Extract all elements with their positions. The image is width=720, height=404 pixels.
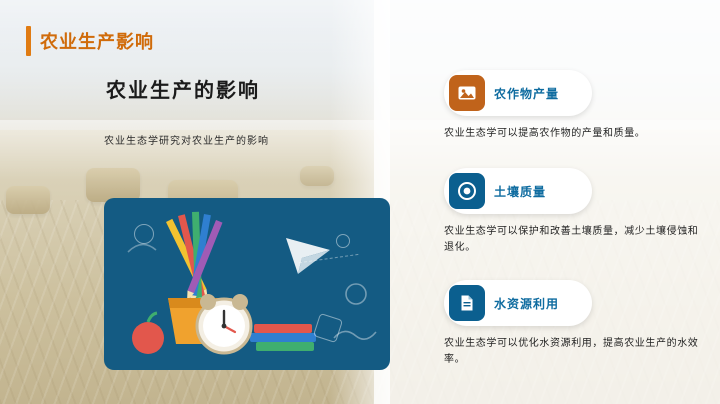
slide-title: 农业生产影响 (40, 28, 154, 54)
feature-description: 农业生态学可以保护和改善土壤质量，减少土壤侵蚀和退化。 (444, 224, 700, 256)
hay-bale (300, 166, 334, 186)
target-circle-icon (449, 173, 485, 209)
slide: 农业生产影响 农业生产的影响 农业生态学研究对农业生产的影响 (0, 0, 720, 404)
document-file-icon (449, 285, 485, 321)
doodle-circle (134, 224, 154, 244)
doodle-circle (336, 234, 350, 248)
feature-label: 农作物产量 (494, 85, 559, 102)
feature-description: 农业生态学可以提高农作物的产量和质量。 (444, 126, 700, 142)
feature-item: 农作物产量 农业生态学可以提高农作物的产量和质量。 (444, 70, 710, 142)
image-photo-icon (449, 75, 485, 111)
section-heading: 农业生产的影响 (106, 74, 260, 103)
feature-label: 水资源利用 (494, 295, 559, 312)
feature-item: 水资源利用 农业生态学可以优化水资源利用，提高农业生产的水效率。 (444, 280, 710, 368)
hay-bale (86, 168, 140, 202)
feature-description: 农业生态学可以优化水资源利用，提高农业生产的水效率。 (444, 336, 700, 368)
feature-item: 土壤质量 农业生态学可以保护和改善土壤质量，减少土壤侵蚀和退化。 (444, 168, 710, 256)
feature-pill[interactable]: 农作物产量 (444, 70, 592, 116)
feature-label: 土壤质量 (494, 183, 546, 200)
hay-bale (6, 186, 50, 214)
stationery-clock-icon (104, 198, 390, 370)
illustration-card (104, 198, 390, 370)
section-subtitle: 农业生态学研究对农业生产的影响 (104, 134, 374, 150)
feature-pill[interactable]: 水资源利用 (444, 280, 592, 326)
title-accent-bar (26, 26, 31, 56)
feature-pill[interactable]: 土壤质量 (444, 168, 592, 214)
